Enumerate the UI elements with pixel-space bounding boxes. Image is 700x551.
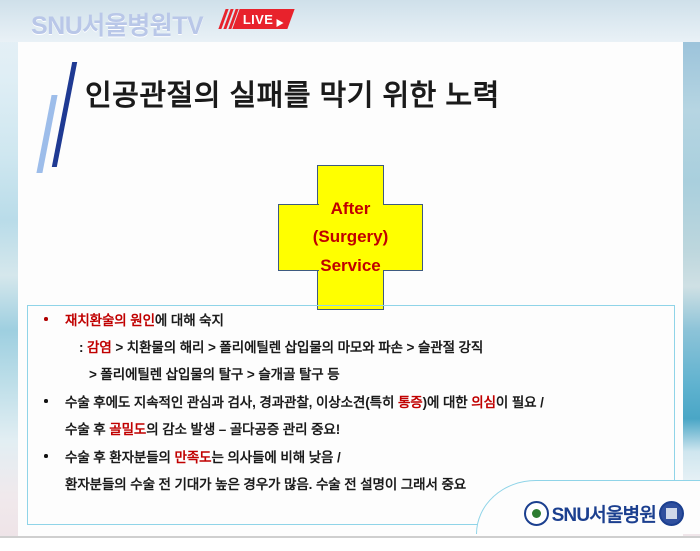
channel-logo: SNU서울병원TV xyxy=(31,6,203,42)
video-background-left-edge xyxy=(0,0,18,551)
bullet-row: 수술 후에도 지속적인 관심과 검사, 경과관찰, 이상소견(특히 통증)에 대… xyxy=(32,389,682,443)
cross-callout-line: Service xyxy=(320,253,381,279)
live-badge-group: LIVE xyxy=(222,8,291,30)
body-text: 의 감소 발생 – 골다공증 관리 중요! xyxy=(146,422,340,437)
player-bottom-bar xyxy=(0,538,700,551)
slide-title: 인공관절의 실패를 막기 위한 노력 xyxy=(85,72,645,114)
hospital-seal-icon xyxy=(659,501,684,526)
bullet-item: 수술 후에도 지속적인 관심과 검사, 경과관찰, 이상소견(특히 통증)에 대… xyxy=(32,389,682,443)
bullet-line: 수술 후 환자분들의 만족도는 의사들에 비해 낮음 / xyxy=(65,444,682,471)
bullet-line: 수술 후에도 지속적인 관심과 검사, 경과관찰, 이상소견(특히 통증)에 대… xyxy=(65,389,682,416)
body-text: 에 대해 숙지 xyxy=(155,313,224,328)
body-text: : xyxy=(79,340,87,355)
body-text: > 치환물의 해리 > 폴리에틸렌 삽입물의 마모와 파손 > 슬관절 강직 xyxy=(112,340,484,355)
cross-callout-line: After xyxy=(331,196,371,222)
play-triangle-icon xyxy=(276,19,283,27)
body-text: 수술 후 환자분들의 xyxy=(65,450,175,465)
bullet-row: 재치환술의 원인에 대해 숙지: 감염 > 치환물의 해리 > 폴리에틸렌 삽입… xyxy=(32,307,682,388)
bullet-item: 재치환술의 원인에 대해 숙지: 감염 > 치환물의 해리 > 폴리에틸렌 삽입… xyxy=(32,307,682,388)
body-text: > 폴리에틸렌 삽입물의 탈구 > 슬개골 탈구 등 xyxy=(89,367,340,382)
highlighted-text: 만족도 xyxy=(175,450,212,465)
live-badge-label: LIVE xyxy=(243,12,274,27)
body-text: 이 필요 / xyxy=(496,395,544,410)
highlighted-text: 골밀도 xyxy=(109,422,146,437)
bullet-dot-icon xyxy=(44,317,48,321)
watermark-label: SNU서울병원 xyxy=(552,500,656,527)
bullet-line: 수술 후 골밀도의 감소 발생 – 골다공증 관리 중요! xyxy=(65,416,682,443)
slide-header-band: SNU서울병원TV LIVE xyxy=(0,0,700,42)
bullet-list: 재치환술의 원인에 대해 숙지: 감염 > 치환물의 해리 > 폴리에틸렌 삽입… xyxy=(32,307,682,499)
bullet-line: > 폴리에틸렌 삽입물의 탈구 > 슬개골 탈구 등 xyxy=(65,361,682,388)
hospital-watermark: SNU서울병원 xyxy=(524,500,684,527)
cross-callout-text: After(Surgery)Service xyxy=(278,165,423,310)
body-text: 는 의사들에 비해 낮음 / xyxy=(211,450,340,465)
highlighted-text: 의심 xyxy=(471,395,496,410)
cross-callout: After(Surgery)Service xyxy=(278,165,423,310)
highlighted-text: 감염 xyxy=(87,340,112,355)
bullet-line: : 감염 > 치환물의 해리 > 폴리에틸렌 삽입물의 마모와 파손 > 슬관절… xyxy=(65,334,682,361)
highlighted-text: 통증 xyxy=(398,395,423,410)
bullet-line: 재치환술의 원인에 대해 숙지 xyxy=(65,307,682,334)
body-text: )에 대한 xyxy=(423,395,472,410)
cross-callout-line: (Surgery) xyxy=(313,224,389,250)
highlighted-text: 재치환술의 원인 xyxy=(65,313,155,328)
bullet-dot-icon xyxy=(44,399,48,403)
live-badge: LIVE xyxy=(232,9,294,29)
bullet-dot-icon xyxy=(44,454,48,458)
body-text: 수술 후 xyxy=(65,422,109,437)
video-player-frame: SNU서울병원TV LIVE 인공관절의 실패를 막기 위한 노력 After(… xyxy=(0,0,700,551)
snu-emblem-icon xyxy=(524,501,549,526)
body-text: 수술 후에도 지속적인 관심과 검사, 경과관찰, 이상소견(특히 xyxy=(65,395,398,410)
body-text: 환자분들의 수술 전 기대가 높은 경우가 많음. 수술 전 설명이 그래서 중… xyxy=(65,477,466,492)
